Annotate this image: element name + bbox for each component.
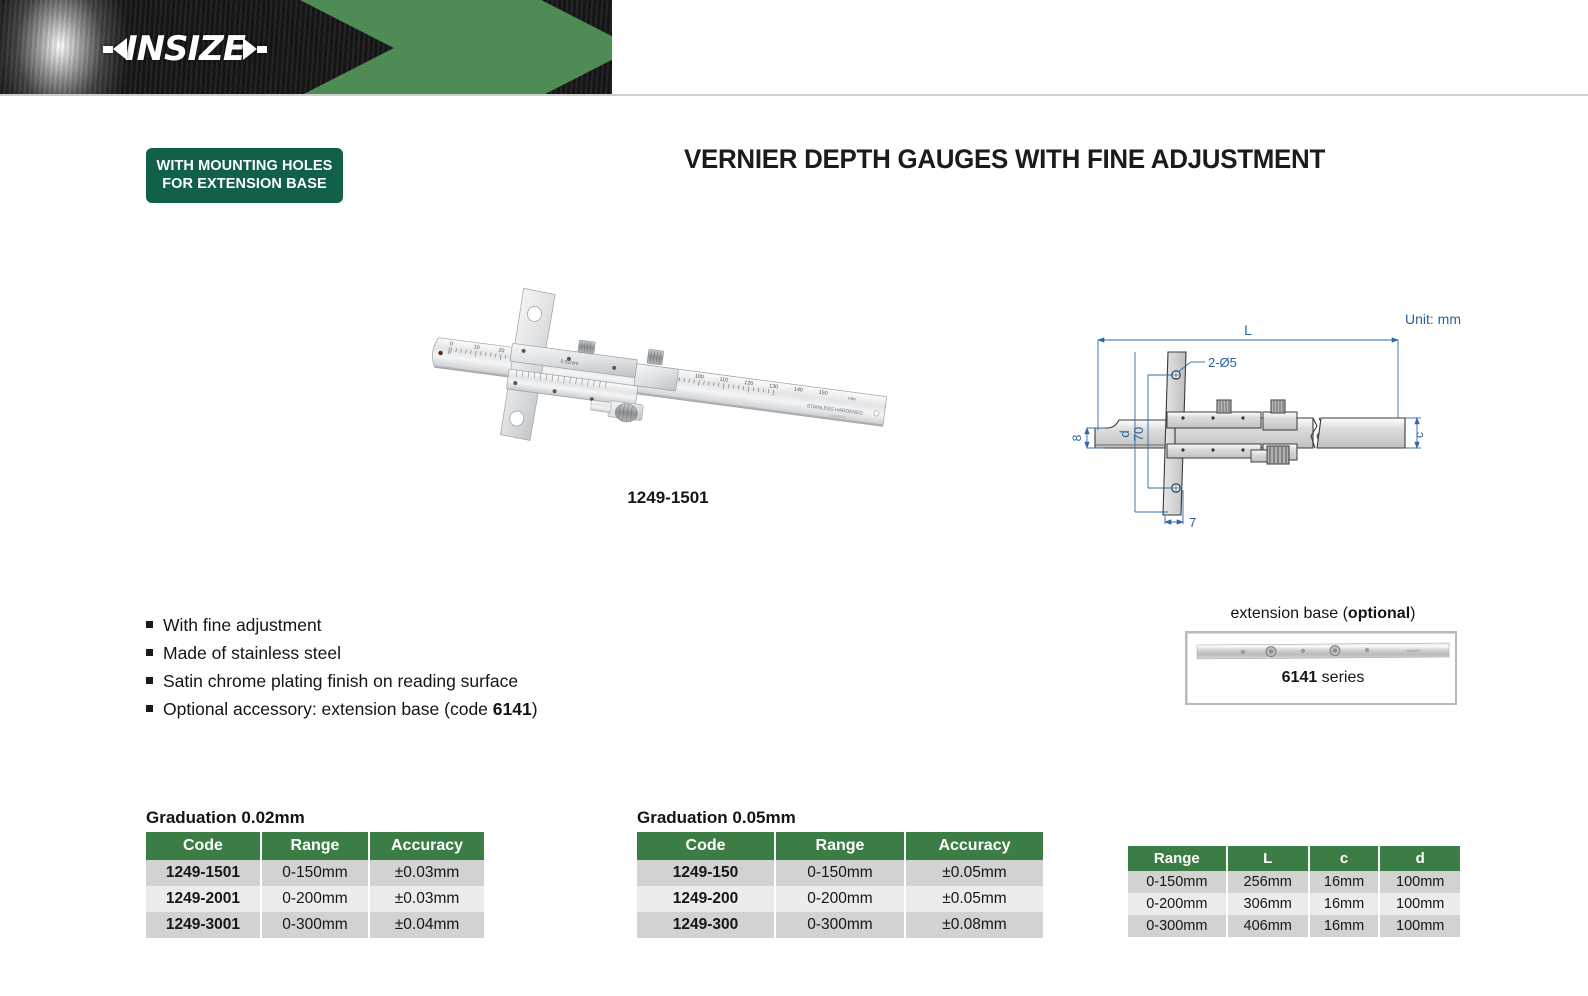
column-header-d: d	[1379, 846, 1460, 871]
dim-label-d: d	[1117, 430, 1132, 437]
cell-code: 1249-3001	[146, 912, 261, 938]
graduation-002-table: Code Range Accuracy 1249-1501 0-150mm ±0…	[146, 832, 484, 938]
extension-base-title: extension base (optional)	[1185, 605, 1461, 623]
insize-logo-text: INSIZE	[125, 29, 245, 69]
cell-accuracy: ±0.03mm	[369, 860, 484, 886]
cell-range: 0-200mm	[1128, 893, 1227, 915]
ext-caption-code: 6141	[1282, 669, 1318, 686]
cell-accuracy: ±0.03mm	[369, 886, 484, 912]
cell-c: 16mm	[1309, 871, 1380, 893]
column-header-range: Range	[1128, 846, 1227, 871]
unit-label: Unit: mm	[1405, 311, 1461, 327]
cell-c: 16mm	[1309, 915, 1380, 937]
dimensions-table-wrapper: Range L c d 0-150mm 256mm 16mm 100mm 0-2…	[1128, 846, 1460, 937]
feature-text: Optional accessory: extension base (code…	[163, 698, 538, 721]
dim-label-c: c	[1412, 432, 1426, 438]
cell-range: 0-300mm	[261, 912, 369, 938]
ext-title-suffix: )	[1410, 605, 1415, 622]
cell-accuracy: ±0.05mm	[905, 886, 1043, 912]
table-row: 1249-2001 0-200mm ±0.03mm	[146, 886, 484, 912]
column-header-accuracy: Accuracy	[369, 832, 484, 860]
bullet-icon	[146, 677, 153, 684]
features-list: With fine adjustment Made of stainless s…	[146, 614, 786, 726]
logo-bar-left-icon	[103, 46, 113, 53]
svg-text:mm: mm	[848, 396, 856, 402]
table-row: 0-200mm 306mm 16mm 100mm	[1128, 893, 1460, 915]
extension-base-caption: 6141 series	[1187, 669, 1459, 687]
svg-text:140: 140	[793, 387, 803, 394]
badge-line-2: FOR EXTENSION BASE	[162, 176, 327, 193]
cell-code: 1249-2001	[146, 886, 261, 912]
svg-text:120: 120	[744, 380, 754, 387]
column-header-L: L	[1227, 846, 1309, 871]
table-header-row: Code Range Accuracy	[146, 832, 484, 860]
cell-code: 1249-200	[637, 886, 775, 912]
product-caption: 1249-1501	[418, 488, 918, 508]
feature-text-suffix: )	[532, 699, 538, 719]
table-title-grad-005: Graduation 0.05mm	[637, 808, 1043, 828]
svg-text:20: 20	[498, 348, 505, 355]
cell-L: 306mm	[1227, 893, 1309, 915]
technical-drawing: L 2-Ø5 8 d 70 7 c Unit: mm	[1065, 300, 1465, 530]
extension-base-photo: INSIZE	[1195, 639, 1451, 665]
cell-accuracy: ±0.05mm	[905, 860, 1043, 886]
cell-code: 1249-150	[637, 860, 775, 886]
graduation-005-table-wrapper: Graduation 0.05mm Code Range Accuracy 12…	[637, 808, 1043, 938]
column-header-code: Code	[146, 832, 261, 860]
svg-text:INSIZE: INSIZE	[1407, 648, 1420, 653]
cell-range: 0-150mm	[1128, 871, 1227, 893]
table-row: 1249-3001 0-300mm ±0.04mm	[146, 912, 484, 938]
cell-L: 406mm	[1227, 915, 1309, 937]
feature-text: With fine adjustment	[163, 614, 322, 637]
column-header-accuracy: Accuracy	[905, 832, 1043, 860]
table-header-row: Range L c d	[1128, 846, 1460, 871]
table-row: 1249-200 0-200mm ±0.05mm	[637, 886, 1043, 912]
list-item: Satin chrome plating finish on reading s…	[146, 670, 786, 693]
cell-range: 0-200mm	[775, 886, 905, 912]
cell-range: 0-150mm	[775, 860, 905, 886]
table-title-grad-002: Graduation 0.02mm	[146, 808, 484, 828]
svg-text:100: 100	[694, 373, 704, 380]
bullet-icon	[146, 621, 153, 628]
svg-text:150: 150	[818, 390, 828, 397]
dim-label-70: 70	[1131, 427, 1146, 441]
svg-text:110: 110	[719, 377, 728, 384]
feature-text: Made of stainless steel	[163, 642, 341, 665]
list-item: Made of stainless steel	[146, 642, 786, 665]
product-photo: 01020 304050 607080 90100110 120130140 1…	[418, 265, 918, 460]
dim-label-7: 7	[1189, 515, 1196, 530]
table-row: 0-150mm 256mm 16mm 100mm	[1128, 871, 1460, 893]
ext-title-bold: optional	[1348, 605, 1410, 622]
cell-d: 100mm	[1379, 915, 1460, 937]
cell-code: 1249-300	[637, 912, 775, 938]
cell-d: 100mm	[1379, 871, 1460, 893]
right-arrow-icon	[243, 38, 257, 60]
extension-base-box: INSIZE 6141 series	[1185, 631, 1457, 705]
feature-text: Satin chrome plating finish on reading s…	[163, 670, 518, 693]
table-header-row: Code Range Accuracy	[637, 832, 1043, 860]
ext-title-plain: extension base (	[1231, 605, 1348, 622]
list-item: With fine adjustment	[146, 614, 786, 637]
cell-range: 0-300mm	[775, 912, 905, 938]
list-item: Optional accessory: extension base (code…	[146, 698, 786, 721]
cell-range: 0-150mm	[261, 860, 369, 886]
table-row: 1249-1501 0-150mm ±0.03mm	[146, 860, 484, 886]
feature-code-bold: 6141	[493, 699, 532, 719]
svg-text:130: 130	[769, 383, 779, 390]
dimensions-table: Range L c d 0-150mm 256mm 16mm 100mm 0-2…	[1128, 846, 1460, 937]
cell-code: 1249-1501	[146, 860, 261, 886]
feature-text-plain: Optional accessory: extension base (code	[163, 699, 493, 719]
mounting-holes-badge: WITH MOUNTING HOLES FOR EXTENSION BASE	[146, 148, 343, 203]
page-title: VERNIER DEPTH GAUGES WITH FINE ADJUSTMEN…	[684, 144, 1325, 175]
table-row: 1249-150 0-150mm ±0.05mm	[637, 860, 1043, 886]
left-arrow-icon	[113, 38, 127, 60]
dim-label-L: L	[1244, 322, 1252, 338]
bullet-icon	[146, 705, 153, 712]
table-row: 1249-300 0-300mm ±0.08mm	[637, 912, 1043, 938]
graduation-005-table: Code Range Accuracy 1249-150 0-150mm ±0.…	[637, 832, 1043, 938]
ext-caption-text: series	[1317, 669, 1364, 686]
header-white-area	[612, 0, 1588, 96]
bullet-icon	[146, 649, 153, 656]
dim-label-8: 8	[1070, 434, 1084, 441]
header-divider	[0, 94, 1588, 96]
insize-logo: INSIZE	[95, 28, 275, 70]
cell-L: 256mm	[1227, 871, 1309, 893]
cell-accuracy: ±0.04mm	[369, 912, 484, 938]
cell-range: 0-300mm	[1128, 915, 1227, 937]
cell-range: 0-200mm	[261, 886, 369, 912]
cell-accuracy: ±0.08mm	[905, 912, 1043, 938]
cell-c: 16mm	[1309, 893, 1380, 915]
table-row: 0-300mm 406mm 16mm 100mm	[1128, 915, 1460, 937]
graduation-002-table-wrapper: Graduation 0.02mm Code Range Accuracy 12…	[146, 808, 484, 938]
dim-label-holes: 2-Ø5	[1208, 355, 1237, 370]
badge-line-1: WITH MOUNTING HOLES	[157, 158, 333, 175]
column-header-range: Range	[775, 832, 905, 860]
page-header: INSIZE	[0, 0, 1588, 96]
column-header-range: Range	[261, 832, 369, 860]
logo-bar-right-icon	[257, 46, 267, 53]
svg-text:10: 10	[473, 344, 480, 351]
cell-d: 100mm	[1379, 893, 1460, 915]
column-header-c: c	[1309, 846, 1380, 871]
column-header-code: Code	[637, 832, 775, 860]
